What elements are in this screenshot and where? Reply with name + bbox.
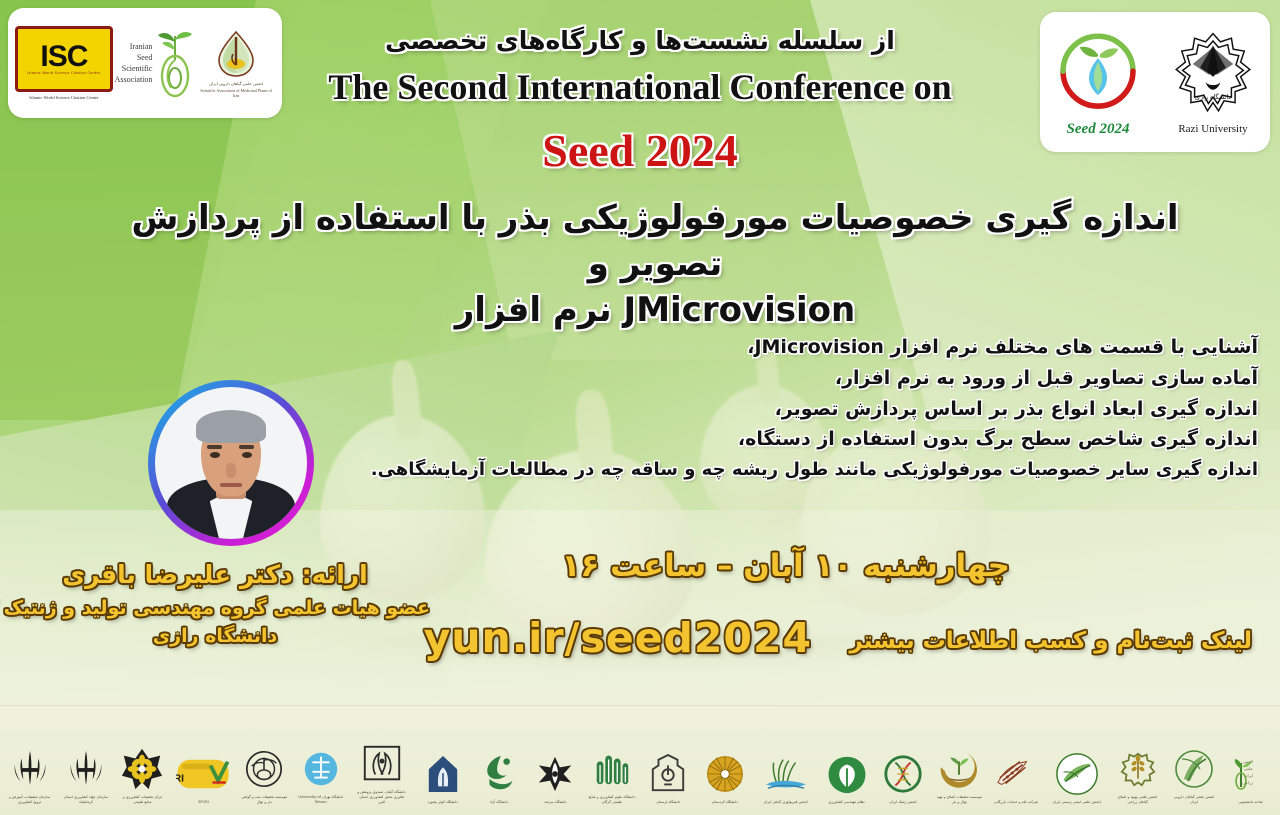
sponsor-logo: دانشگاه کوثر بجنورد xyxy=(419,717,466,805)
speaker-university: دانشگاه رازی xyxy=(0,625,430,647)
sponsor-caption: دانشگاه بیرجند xyxy=(544,800,566,805)
biosafety-circle-icon xyxy=(1054,750,1100,798)
sponsor-caption: موسسه تحقیقات ثبت و گواهی بذر و نهال xyxy=(241,795,288,804)
seedling-bowl-icon xyxy=(937,745,981,793)
svg-text:SPCRI: SPCRI xyxy=(176,773,184,784)
registration-label: لینک ثبت‌نام و کسب اطلاعات بیشتر xyxy=(849,628,1252,654)
sponsor-logo: دانشگاه بیرجند xyxy=(532,717,579,805)
sponsor-logo: دانشگاه لرستان xyxy=(645,717,692,805)
agri-engineering-leaf-icon xyxy=(825,750,869,798)
conference-poster: انجمن علمی گیاهان دارویی ایران Scientifi… xyxy=(0,0,1280,815)
portrait-illustration xyxy=(155,387,307,539)
sponsor-caption: موسسه تحقیقات اصلاح و تهیه نهال و بذر xyxy=(936,795,983,804)
sponsor-caption: دانشگاه کوثر بجنورد xyxy=(428,800,458,805)
sponsor-logo: دانشگاه تهران University of Tehran xyxy=(297,717,344,805)
sponsor-logo: دانشگاه علوم کشاورزی و منابع طبیعی گرگان xyxy=(588,717,635,805)
sponsor-logo: سازمان جهاد کشاورزی استان کرمانشاه xyxy=(63,717,110,805)
gorgan-leaves-icon xyxy=(591,745,633,793)
birjand-star-icon xyxy=(533,750,577,798)
sponsor-caption: دانشگاه آزاد xyxy=(490,800,508,805)
registration-url[interactable]: yun.ir/seed2024 xyxy=(424,614,812,662)
sponsor-caption: دانشگاه تهران University of Tehran xyxy=(297,795,344,804)
sponsor-caption: دانشگاه کردستان xyxy=(712,800,738,805)
sponsor-caption: سازمان تحقیقات، آموزش و ترویج کشاورزی xyxy=(6,795,53,804)
sponsor-logo: شرکت غله و خدمات بازرگانی xyxy=(992,717,1039,805)
sponsor-caption: انجمن ژنتیک ایران xyxy=(889,800,916,805)
sponsor-caption: شرکت غله و خدمات بازرگانی xyxy=(994,800,1038,805)
svg-text:علمی: علمی xyxy=(1243,766,1252,771)
list-item: اندازه گیری ابعاد انواع بذر بر اساس پردا… xyxy=(558,394,1258,425)
sponsor-logo: موسسه تحقیقات ثبت و گواهی بذر و نهال xyxy=(241,717,288,805)
speaker-name: ارائه: دکتر علیرضا باقری xyxy=(0,560,430,589)
azad-calligraphy-icon xyxy=(478,750,520,798)
svg-text:زراعی: زراعی xyxy=(1242,780,1253,785)
sponsor-caption: نظام مهندسی کشاورزی xyxy=(828,800,864,805)
sponsor-logo: انجمن ژنتیک ایران xyxy=(879,717,926,805)
sponsor-caption: SPCRI xyxy=(198,800,209,805)
list-item: اندازه گیری شاخص سطح برگ بدون استفاده از… xyxy=(558,424,1258,455)
list-item: اندازه گیری سایر خصوصیات مورفولوژیکی مان… xyxy=(558,455,1258,484)
iran-emblem-icon xyxy=(11,745,49,793)
conference-brand: Seed 2024 xyxy=(0,124,1280,177)
list-item: آماده سازی تصاویر قبل از ورود به نرم افز… xyxy=(558,363,1258,394)
sponsor-logo: سازمان تحقیقات، آموزش و ترویج کشاورزی xyxy=(6,717,53,805)
grain-trade-icon xyxy=(994,750,1038,798)
event-datetime: چهارشنبه ۱۰ آبان – ساعت ۱۶ xyxy=(561,548,1010,584)
sponsor-logo: مرکز تحقیقات کشاورزی و منابع طبیعی xyxy=(119,717,166,805)
sponsor-logo: انجمن علمی بهبود و اصلاح گیاهان زراعی xyxy=(1114,717,1161,805)
eight-point-star-icon xyxy=(120,745,164,793)
speaker-avatar xyxy=(148,380,314,546)
sponsor-caption: مرکز تحقیقات کشاورزی و منابع طبیعی xyxy=(119,795,166,804)
seed-certification-icon xyxy=(242,745,286,793)
sponsor-logo: دانشگاه آزاد xyxy=(476,717,523,805)
iran-emblem-icon xyxy=(67,745,105,793)
svg-text:انجمن: انجمن xyxy=(1242,759,1252,764)
sponsor-logo: نظام مهندسی کشاورزی xyxy=(823,717,870,805)
student-branch-icon: انجمنعلمی ایرانزراعی xyxy=(1231,750,1271,798)
sponsor-caption: انجمن علمی گیاهان دارویی ایران xyxy=(1171,795,1218,804)
sponsor-logo: انجمن فیزیولوژی گیاهی ایران xyxy=(758,717,814,805)
sponsor-logo-strip: انجمنعلمی ایرانزراعی شاخه دانشجویی انجمن… xyxy=(0,705,1280,815)
avatar-photo xyxy=(155,387,307,539)
medicinal-plants-icon xyxy=(1172,745,1216,793)
kosar-arch-icon xyxy=(425,750,461,798)
sponsor-caption: دانشگاه لرستان xyxy=(656,800,680,805)
topics-list: آشنایی با قسمت های مختلف نرم افزار JMicr… xyxy=(558,332,1258,484)
speaker-details: ارائه: دکتر علیرضا باقری عضو هیات علمی گ… xyxy=(0,560,430,647)
sponsor-logo: موسسه تحقیقات اصلاح و تهیه نهال و بذر xyxy=(936,717,983,805)
conference-title-en: The Second International Conference on xyxy=(0,66,1280,108)
workshop-title-line2: JMicrovision نرم افزار xyxy=(110,288,1200,334)
guilan-emblem-icon xyxy=(360,740,404,788)
genetics-circle-icon xyxy=(882,750,924,798)
university-of-tehran-icon xyxy=(301,745,341,793)
sunburst-icon xyxy=(703,750,747,798)
sponsor-logo: انجمنعلمی ایرانزراعی شاخه دانشجویی xyxy=(1227,717,1274,805)
sponsor-logo: دانشگاه کردستان xyxy=(701,717,748,805)
kicker-text: از سلسله نشست‌ها و کارگاه‌های تخصصی xyxy=(0,26,1280,55)
software-name: JMicrovision xyxy=(624,290,856,330)
spcri-badge-icon: SPCRI xyxy=(176,750,230,798)
sponsor-logo: دانشگاه گیلان، صندوق پژوهش و فناوری بخش … xyxy=(354,717,410,805)
wheat-gear-icon xyxy=(1117,745,1159,793)
plant-physiology-icon xyxy=(762,750,810,798)
sponsor-caption: سازمان جهاد کشاورزی استان کرمانشاه xyxy=(63,795,110,804)
sponsor-caption: دانشگاه علوم کشاورزی و منابع طبیعی گرگان xyxy=(588,795,635,804)
sponsor-caption: انجمن فیزیولوژی گیاهی ایران xyxy=(764,800,808,805)
sponsor-caption: انجمن علمی ایمنی زیستی ایران xyxy=(1053,800,1101,805)
workshop-title-line2-prefix: نرم افزار xyxy=(455,290,612,330)
workshop-title-line1: اندازه گیری خصوصیات مورفولوژیکی بذر با ا… xyxy=(110,196,1200,288)
sponsor-caption: دانشگاه گیلان، صندوق پژوهش و فناوری بخش … xyxy=(357,790,407,804)
sponsor-logo: انجمن علمی گیاهان دارویی ایران xyxy=(1171,717,1218,805)
list-item: آشنایی با قسمت های مختلف نرم افزار JMicr… xyxy=(558,332,1258,363)
sponsor-logo: SPCRI SPCRI xyxy=(175,717,231,805)
workshop-title: اندازه گیری خصوصیات مورفولوژیکی بذر با ا… xyxy=(110,196,1200,334)
sponsor-caption: انجمن علمی بهبود و اصلاح گیاهان زراعی xyxy=(1114,795,1161,804)
lorestan-emblem-icon xyxy=(649,750,687,798)
speaker-affiliation: عضو هیات علمی گروه مهندسی تولید و ژنتیک … xyxy=(0,597,430,619)
sponsor-caption: شاخه دانشجویی xyxy=(1238,800,1262,805)
sponsor-logo: انجمن علمی ایمنی زیستی ایران xyxy=(1049,717,1105,805)
svg-text:ایران: ایران xyxy=(1244,773,1252,778)
